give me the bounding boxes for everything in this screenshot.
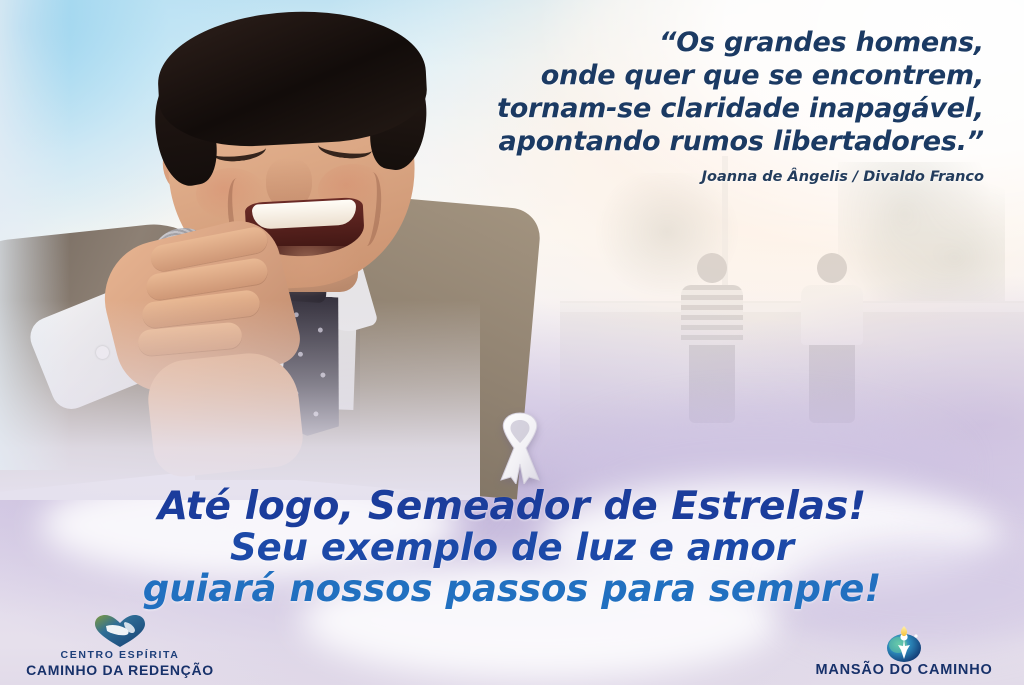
quote-line-4: apontando rumos libertadores.”	[444, 125, 984, 158]
logo-mansao-do-caminho: MANSÃO DO CAMINHO	[792, 626, 1016, 679]
logo-right-line-1: MANSÃO DO CAMINHO	[792, 662, 1016, 679]
quote-line-2: onde quer que se encontrem,	[444, 59, 984, 92]
memorial-poster: “Os grandes homens, onde quer que se enc…	[0, 0, 1024, 685]
tribute-line-1: Até logo, Semeador de Estrelas!	[0, 486, 1024, 528]
logo-left-line-2: CAMINHO DA REDENÇÃO	[8, 662, 232, 679]
logo-left-line-1: CENTRO ESPÍRITA	[8, 649, 232, 662]
portrait-left-fade	[0, 0, 70, 470]
photo-figure-white-shirt	[801, 253, 863, 423]
quote-attribution: Joanna de Ângelis / Divaldo Franco	[444, 169, 984, 185]
teeth	[252, 200, 357, 230]
background-photo-two-people	[560, 150, 1024, 440]
quote-block: “Os grandes homens, onde quer que se enc…	[444, 26, 984, 185]
tribute-line-2: Seu exemplo de luz e amor	[0, 528, 1024, 568]
white-ribbon-icon	[489, 408, 551, 484]
logo-centro-espirita: CENTRO ESPÍRITA CAMINHO DA REDENÇÃO	[8, 613, 232, 679]
portrait-bottom-fade	[0, 300, 480, 500]
tribute-line-3: guiará nossos passos para sempre!	[0, 568, 1024, 609]
heart-hands-icon	[8, 613, 232, 649]
tribute-text-block: Até logo, Semeador de Estrelas! Seu exem…	[0, 486, 1024, 609]
hair	[155, 5, 430, 151]
quote-line-3: tornam-se claridade inapagável,	[444, 92, 984, 125]
globe-figure-flame-icon	[792, 626, 1016, 662]
quote-line-1: “Os grandes homens,	[444, 26, 984, 59]
portrait-divaldo	[0, 0, 470, 470]
photo-figure-striped-shirt	[681, 253, 743, 423]
